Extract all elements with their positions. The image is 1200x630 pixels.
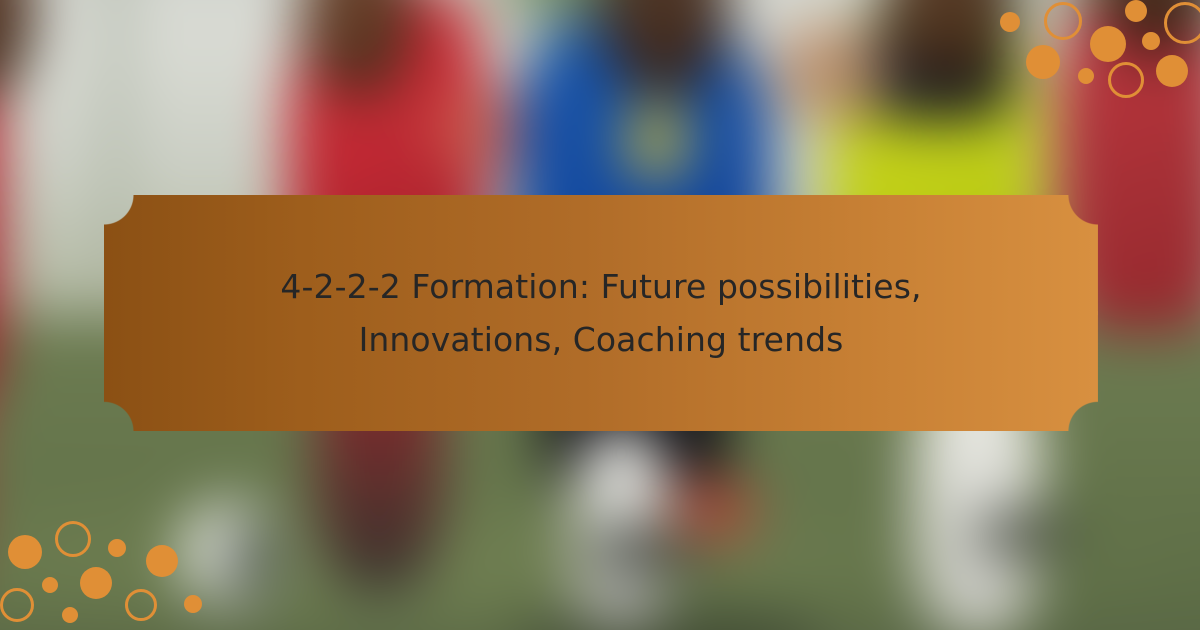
- card-title: 4-2-2-2 Formation: Future possibilities,…: [224, 260, 977, 367]
- boot-dark-right: [971, 509, 1071, 558]
- card-title-line-2: Innovations, Coaching trends: [280, 313, 921, 366]
- boot-dark-left: [586, 526, 700, 575]
- card-title-line-1: 4-2-2-2 Formation: Future possibilities,: [280, 260, 921, 313]
- boot-red: [671, 477, 757, 542]
- soccer-ball-patch: [224, 526, 275, 583]
- title-card: 4-2-2-2 Formation: Future possibilities,…: [104, 195, 1098, 431]
- player-blue-number: [629, 104, 686, 177]
- share-card-canvas: 4-2-2-2 Formation: Future possibilities,…: [0, 0, 1200, 630]
- player-yellow-arm: [771, 23, 885, 120]
